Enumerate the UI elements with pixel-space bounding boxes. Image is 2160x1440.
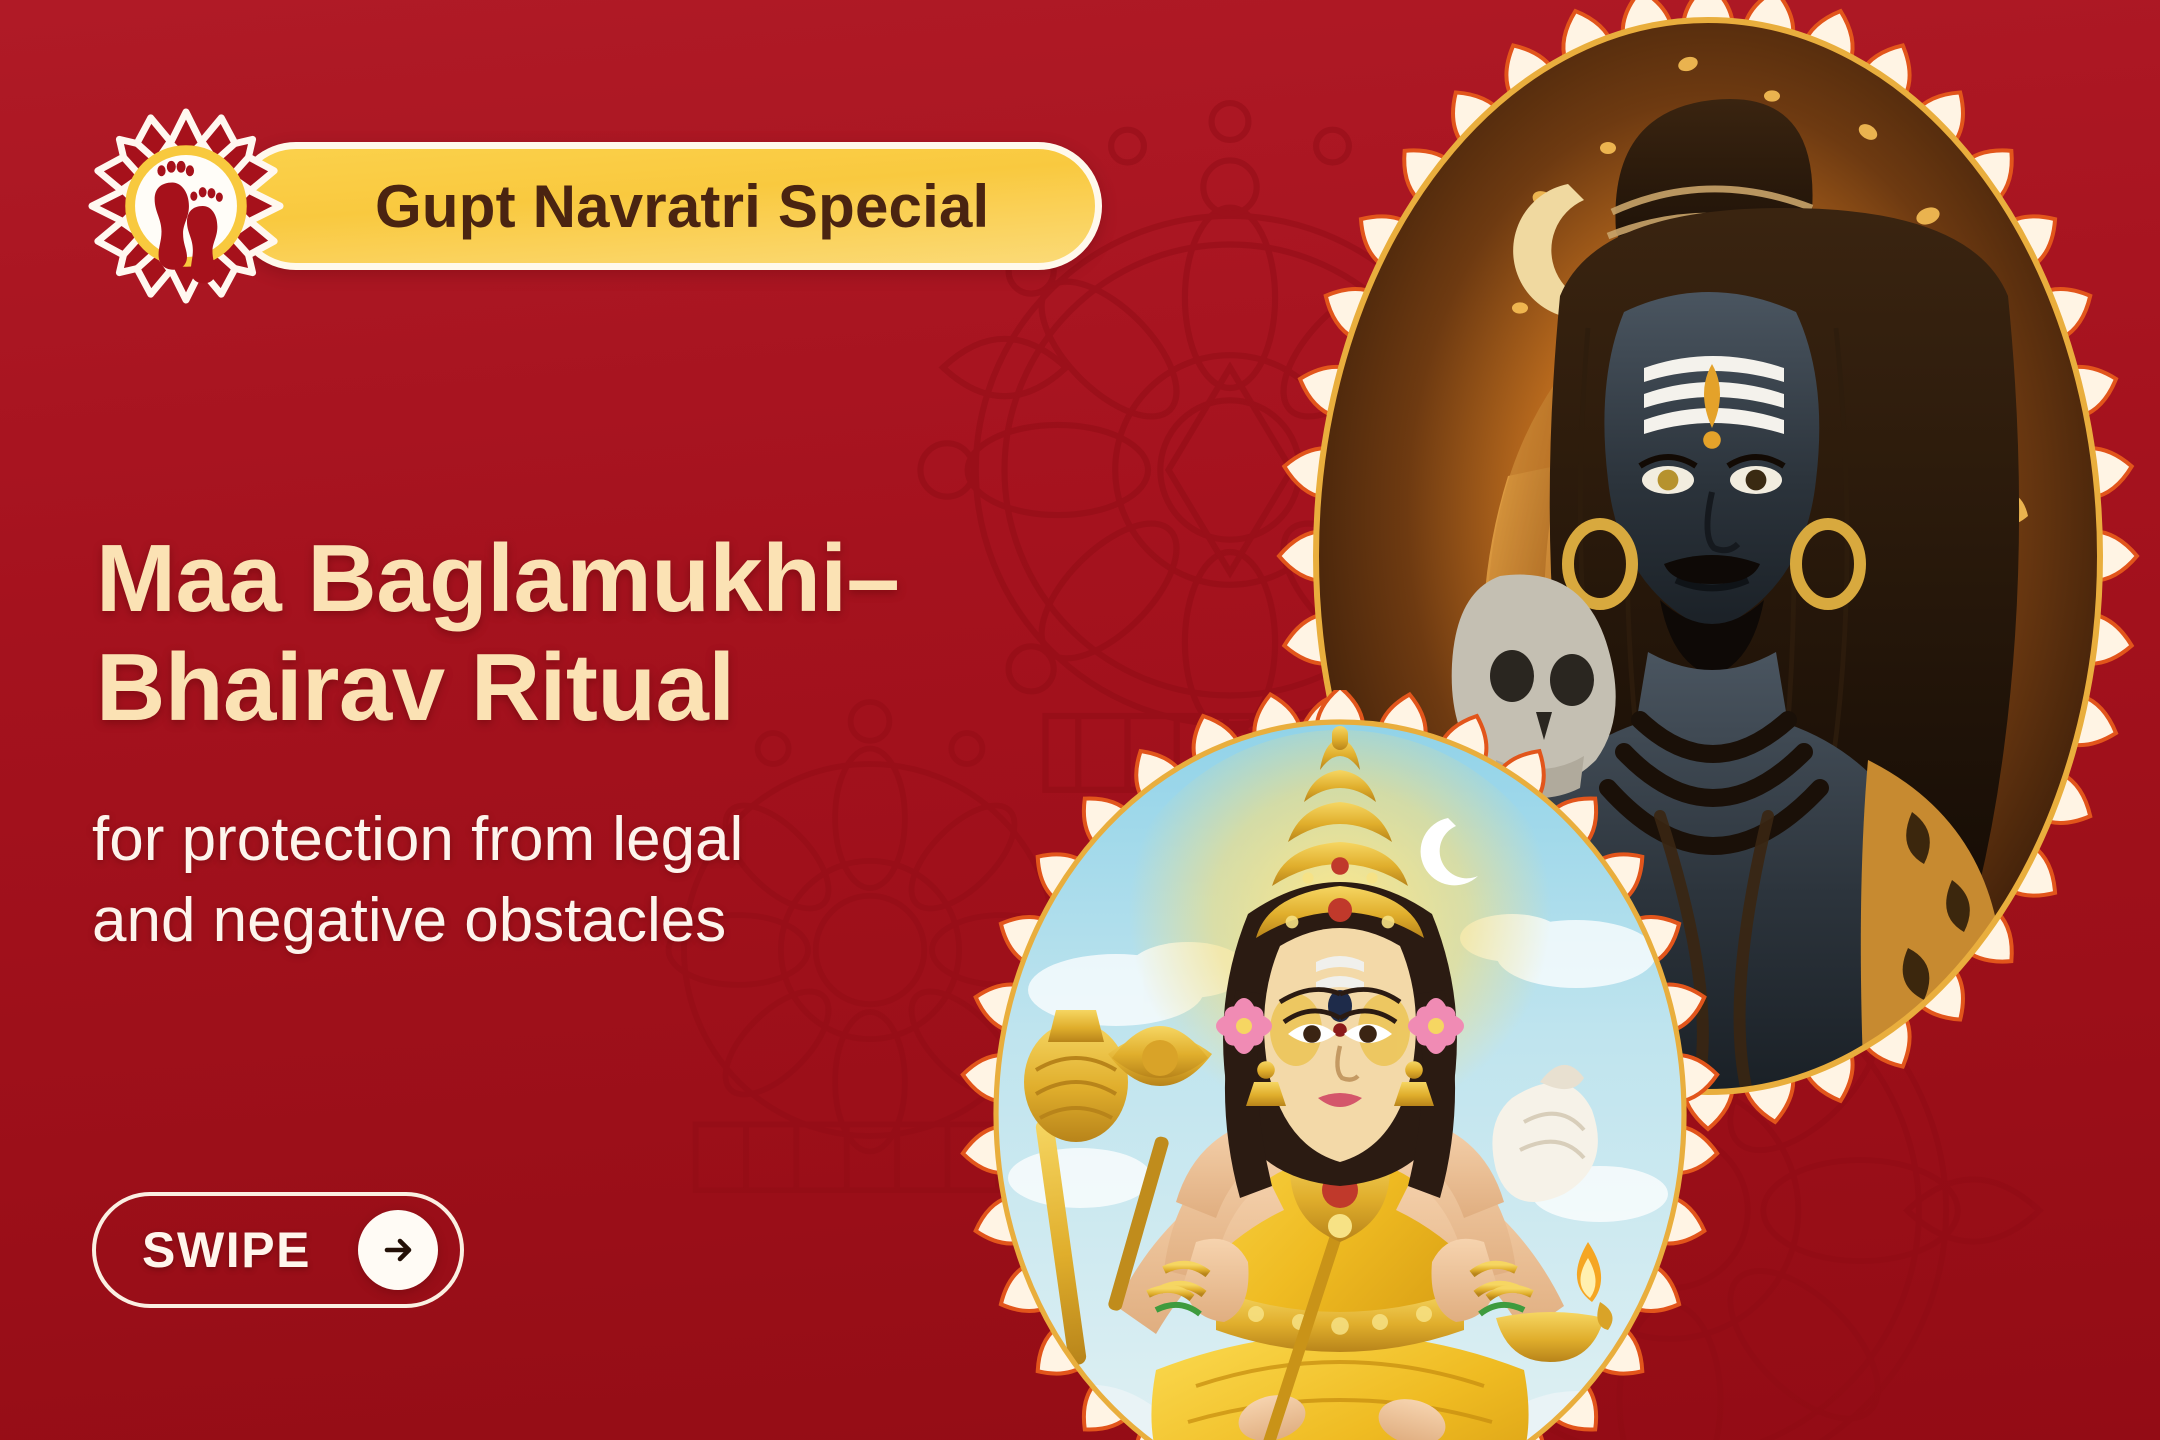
- baglamukhi-portrait[interactable]: शक्ति: [940, 690, 1740, 1440]
- subhead-line-2: and negative obstacles: [92, 881, 992, 962]
- page-title: Maa Baglamukhi– Bhairav Ritual: [96, 524, 1046, 743]
- swipe-button[interactable]: SWIPE: [92, 1192, 464, 1308]
- headline-line-1: Maa Baglamukhi–: [96, 524, 1046, 633]
- page-subtitle: for protection from legal and negative o…: [92, 800, 992, 961]
- poster-canvas: Gupt Navratri Special Maa Baglamukhi– Bh…: [0, 0, 2160, 1440]
- brand-header: Gupt Navratri Special: [88, 108, 1102, 304]
- badge-label: Gupt Navratri Special: [375, 172, 989, 241]
- arrow-right-icon[interactable]: [358, 1210, 438, 1290]
- lotus-footprints-logo-icon[interactable]: [88, 108, 284, 304]
- gupt-navratri-badge[interactable]: Gupt Navratri Special: [232, 142, 1102, 270]
- subhead-line-1: for protection from legal: [92, 800, 992, 881]
- swipe-label: SWIPE: [142, 1221, 311, 1279]
- headline-line-2: Bhairav Ritual: [96, 633, 1046, 742]
